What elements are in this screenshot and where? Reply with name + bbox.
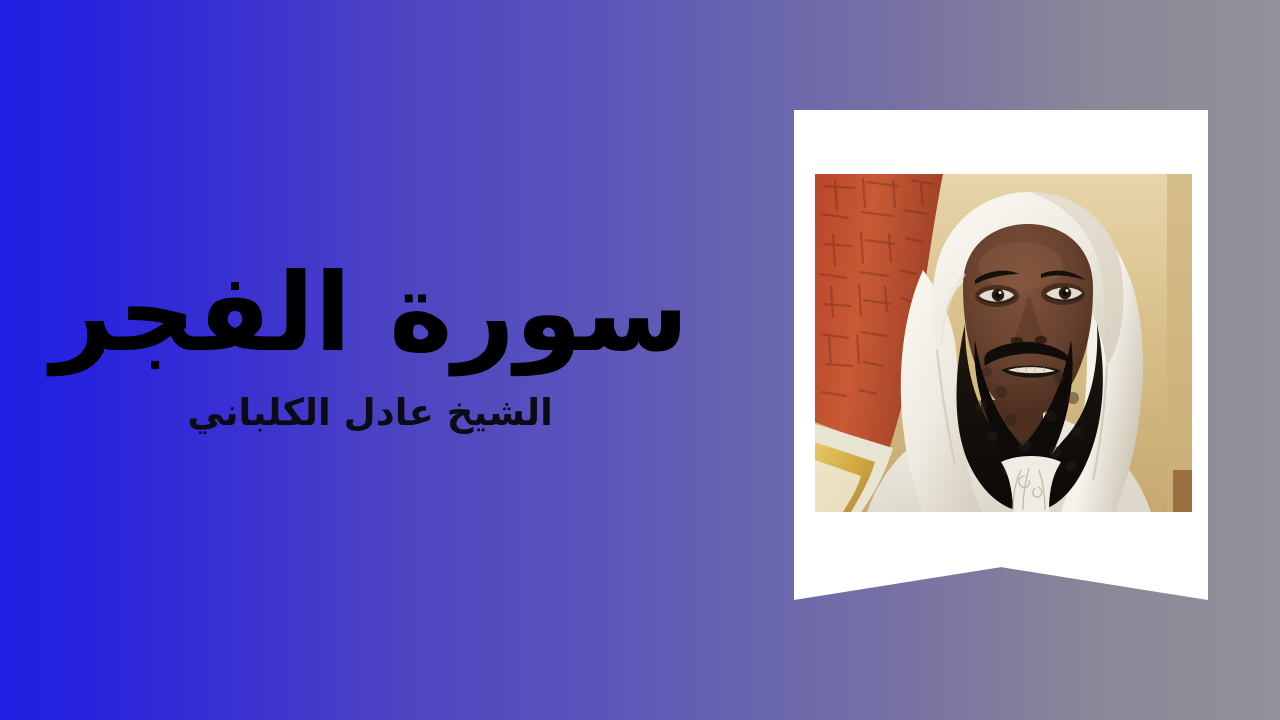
page-subtitle: الشيخ عادل الكلباني (0, 391, 740, 435)
portrait-illustration (815, 174, 1192, 512)
page-title: سورة الفجر (0, 250, 740, 377)
title-text-block: سورة الفجر الشيخ عادل الكلباني (0, 250, 740, 436)
portrait-photo (815, 174, 1192, 512)
slide-canvas: سورة الفجر الشيخ عادل الكلباني (0, 0, 1280, 720)
